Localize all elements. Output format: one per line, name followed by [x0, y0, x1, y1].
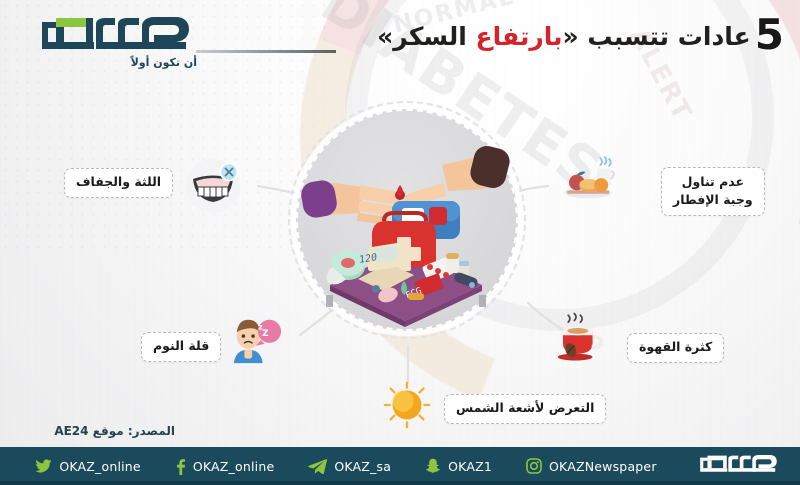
label-skip-breakfast-line1: عدم تناول — [673, 173, 753, 191]
social-instagram-handle: OKAZNewspaper — [549, 459, 657, 474]
social-telegram-handle: OKAZ_sa — [334, 459, 391, 474]
label-skip-breakfast-line2: وجبة الإفطار — [673, 191, 753, 209]
facebook-icon — [175, 458, 186, 475]
source-note: المصدر: موقع AE24 — [54, 424, 175, 438]
footer-okaz-logo — [696, 453, 782, 479]
social-snapchat-handle: OKAZ1 — [448, 459, 492, 474]
social-snapchat[interactable]: OKAZ1 — [425, 458, 492, 474]
label-skip-breakfast[interactable]: عدم تناول وجبة الإفطار — [661, 167, 765, 216]
social-twitter-handle: OKAZ_online — [59, 459, 141, 474]
social-twitter[interactable]: OKAZ_online — [35, 459, 141, 474]
twitter-icon — [35, 459, 52, 474]
footer-bottom-strip — [0, 481, 800, 485]
breakfast-tray-icon — [562, 152, 616, 206]
social-telegram[interactable]: OKAZ_sa — [308, 458, 391, 474]
infographic-page: NORMAL DIABETES ALERT Level أن تكون أولا… — [0, 0, 800, 485]
instagram-icon — [526, 458, 542, 474]
telegram-icon — [308, 458, 327, 474]
teeth-dry-icon — [186, 159, 240, 213]
label-too-much-coffee[interactable]: كثرة القهوة — [627, 333, 724, 363]
snapchat-icon — [425, 458, 441, 474]
svg-text:Z: Z — [262, 329, 268, 339]
label-lack-of-sleep[interactable]: قلة النوم — [141, 332, 221, 362]
social-footer-bar: OKAZ_online OKAZ_online OKAZ_sa OKAZ1 — [0, 447, 800, 485]
social-facebook-handle: OKAZ_online — [193, 459, 275, 474]
coffee-cup-icon — [556, 310, 610, 364]
label-sun-exposure[interactable]: التعرض لأشعة الشمس — [444, 394, 606, 424]
social-facebook[interactable]: OKAZ_online — [175, 458, 275, 475]
sleepy-person-icon: z Z — [228, 313, 282, 367]
diabetes-test-illustration: 120 ECG — [296, 109, 514, 327]
sun-icon — [380, 378, 434, 432]
social-instagram[interactable]: OKAZNewspaper — [526, 458, 657, 474]
label-gums-dehydration[interactable]: اللثة والجفاف — [64, 168, 173, 198]
